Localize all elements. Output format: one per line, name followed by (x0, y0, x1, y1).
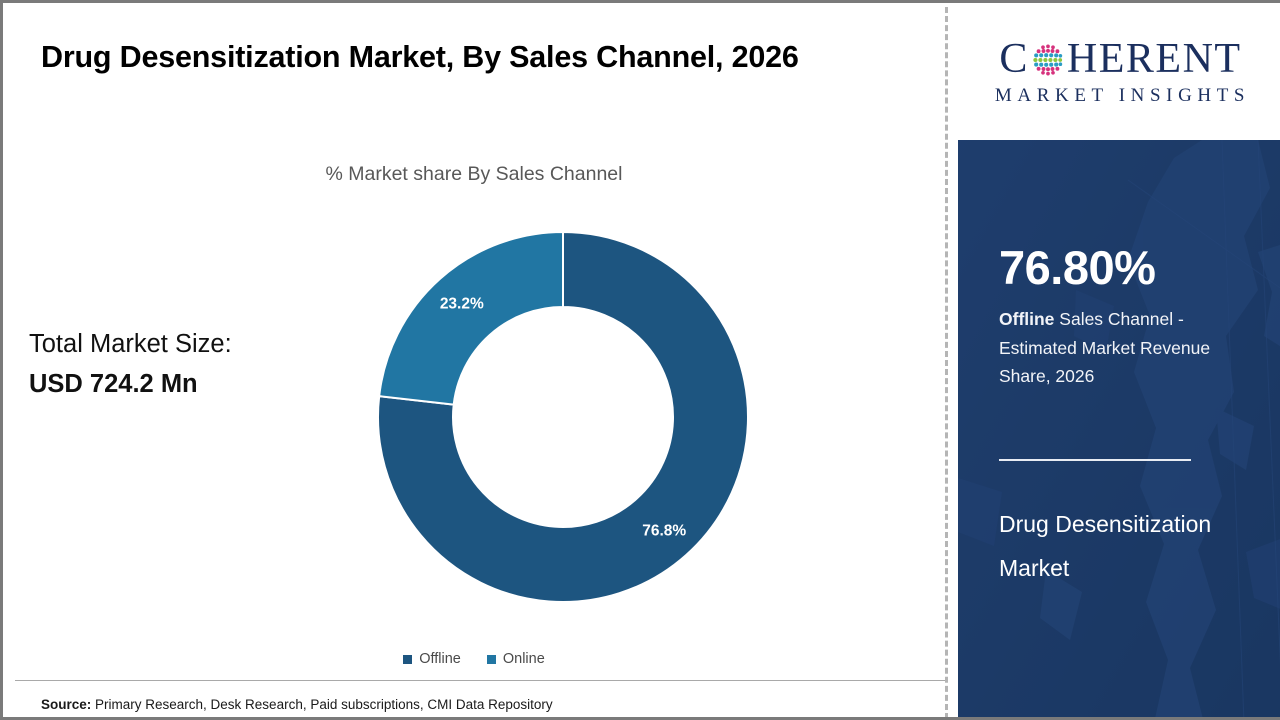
panel-divider (999, 459, 1191, 461)
legend-swatch-online (487, 655, 496, 664)
stat-caption-strong: Offline (999, 309, 1054, 329)
donut-label-offline: 76.8% (642, 522, 686, 539)
stat-value: 76.80% (999, 243, 1249, 292)
pane-divider (945, 7, 948, 719)
donut-label-online: 23.2% (440, 296, 484, 313)
total-market-size-value: USD 724.2 Mn (29, 365, 232, 405)
total-market-size: Total Market Size: USD 724.2 Mn (29, 325, 232, 405)
left-content-pane: Drug Desensitization Market, By Sales Ch… (3, 3, 945, 717)
source-divider (15, 680, 945, 681)
source-label: Source: (41, 697, 91, 712)
legend-swatch-offline (403, 655, 412, 664)
chart-subtitle: % Market share By Sales Channel (3, 163, 945, 186)
highlight-panel: 76.80% Offline Sales Channel - Estimated… (958, 140, 1280, 720)
logo-word-left: C (999, 38, 1029, 80)
legend-label-offline: Offline (419, 651, 461, 667)
donut-slice-online[interactable] (379, 232, 563, 405)
chart-legend: Offline Online (3, 651, 945, 667)
donut-chart: 23.2% 76.8% (378, 232, 748, 602)
logo-tagline: MARKET INSIGHTS (991, 85, 1250, 107)
source-text: Primary Research, Desk Research, Paid su… (91, 697, 552, 712)
stat-block: 76.80% Offline Sales Channel - Estimated… (999, 243, 1249, 390)
right-sidebar-pane: C (958, 3, 1280, 720)
legend-item-offline[interactable]: Offline (403, 651, 461, 667)
market-name: Drug Desensitization Market (999, 502, 1259, 590)
legend-item-online[interactable]: Online (487, 651, 545, 667)
brand-logo[interactable]: C (958, 3, 1280, 140)
world-map-texture (958, 140, 1280, 720)
logo-wordmark: C (999, 36, 1241, 82)
report-infographic-page: Drug Desensitization Market, By Sales Ch… (0, 0, 1280, 720)
logo-word-right: HERENT (1067, 38, 1242, 80)
page-title: Drug Desensitization Market, By Sales Ch… (41, 34, 911, 80)
dotted-globe-icon (1030, 42, 1066, 78)
stat-caption: Offline Sales Channel - Estimated Market… (999, 305, 1249, 390)
source-note: Source: Primary Research, Desk Research,… (41, 697, 553, 712)
legend-label-online: Online (503, 651, 545, 667)
total-market-size-label: Total Market Size: (29, 330, 232, 358)
